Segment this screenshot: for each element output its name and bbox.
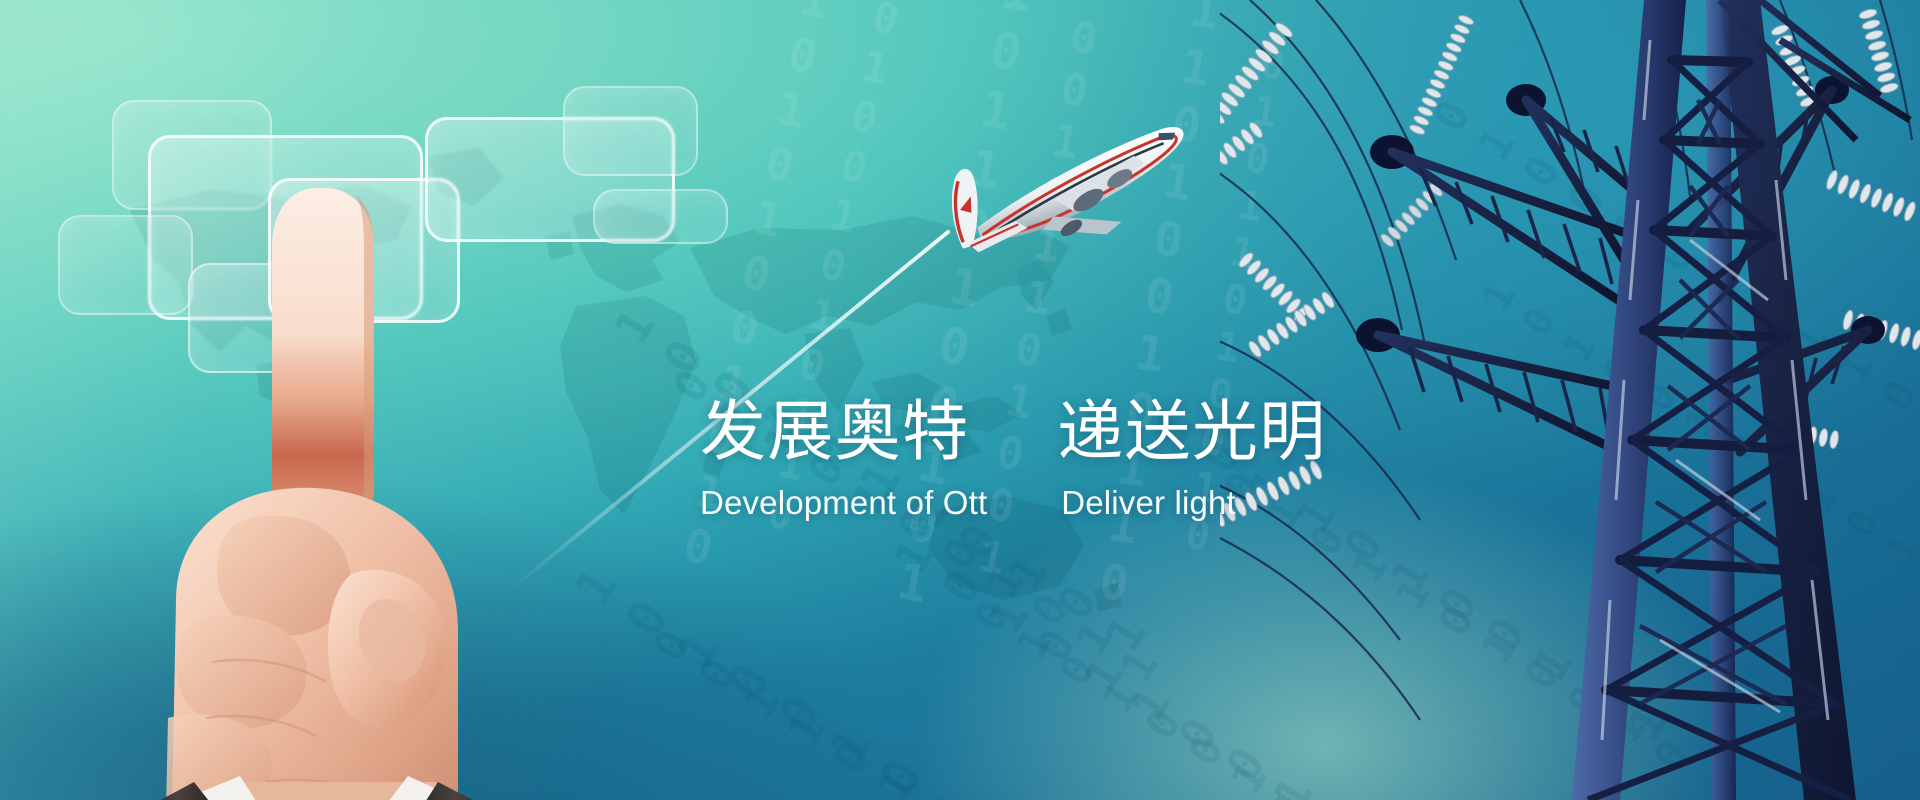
headline-cn-1: 发展奥特 <box>700 398 987 467</box>
headline-en-2: Deliver light <box>1061 485 1326 521</box>
headline-block: 发展奥特 Development of Ott 递送光明 Deliver lig… <box>700 398 1460 521</box>
touch-panel-7[interactable] <box>563 86 698 176</box>
banner-stage: 10101001010 01001010110 10110100101 0010… <box>0 0 1920 800</box>
pointing-hand <box>120 170 640 800</box>
headline-row: 发展奥特 Development of Ott 递送光明 Deliver lig… <box>700 398 1460 521</box>
headline-en-1: Development of Ott <box>700 485 987 521</box>
index-finger <box>272 188 374 530</box>
headline-cn-2: 递送光明 <box>1057 398 1326 467</box>
headline-group-1: 发展奥特 Development of Ott <box>700 398 987 521</box>
headline-group-2: 递送光明 Deliver light <box>1057 398 1326 521</box>
